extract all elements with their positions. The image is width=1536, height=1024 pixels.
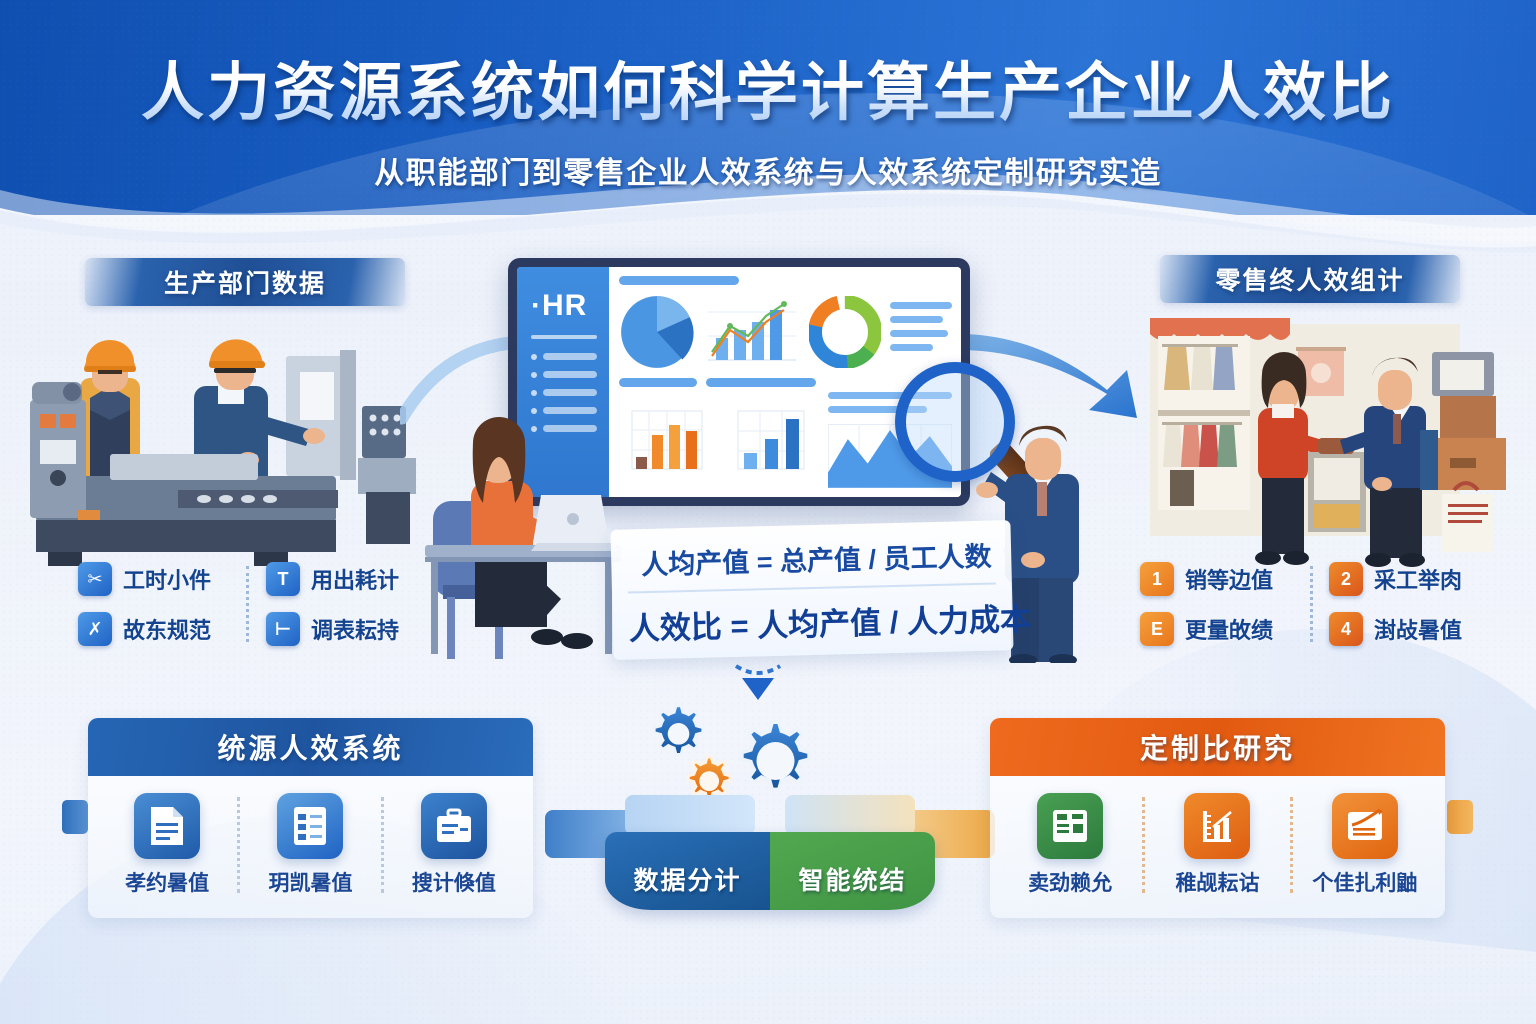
text-icon: T <box>266 562 300 596</box>
woman-at-laptop-illustration <box>425 415 640 670</box>
left-chip-3-label: 故东规范 <box>123 613 211 645</box>
sidebar-menu-item-4[interactable] <box>531 407 597 414</box>
left-section-ribbon: 生产部门数据 <box>85 258 405 306</box>
id-card-icon <box>1037 793 1103 859</box>
left-chip-1[interactable]: ✂ 工时小件 <box>78 562 240 596</box>
page-subtitle: 从职能部门到零售企业人效系统与人效系统定制研究实造 <box>0 148 1536 192</box>
bottom-left-panel-body: 孝约暑值 玥凯暑值 <box>88 776 533 918</box>
number-3-icon: E <box>1140 612 1174 646</box>
gear-small-blue <box>654 706 703 755</box>
pie-chart[interactable] <box>619 290 695 373</box>
bottom-left-divider-1 <box>237 797 240 893</box>
formula-line-2: 人效比 = 人均产值 / 人力成本 <box>628 585 997 653</box>
formula-card: 人均产值 = 总产值 / 员工人数 人效比 = 人均产值 / 人力成本 <box>610 520 1013 660</box>
sidebar-menu-item-1[interactable] <box>531 353 597 360</box>
sidebar-menu-item-2[interactable] <box>531 371 597 378</box>
bottom-left-item-1-label: 孝约暑值 <box>125 867 209 897</box>
briefcase-icon <box>421 793 487 859</box>
right-section-ribbon: 零售终人效组计 <box>1160 255 1460 303</box>
number-4-icon: 4 <box>1329 612 1363 646</box>
bottom-right-panel: 定制比研究 卖劲赖允 <box>990 718 1445 918</box>
left-chip-4[interactable]: ⊢ 调表耘持 <box>266 612 428 646</box>
right-chip-1-label: 销等边值 <box>1185 563 1273 595</box>
dashboard-row-1 <box>619 290 952 373</box>
line-bar-combo-chart[interactable] <box>704 290 800 373</box>
right-chip-3-label: 更量敀绩 <box>1185 613 1273 645</box>
bottom-left-item-3-label: 搜计倏值 <box>412 867 496 897</box>
bottom-right-panel-body: 卖劲赖允 稚觇耘诂 <box>990 776 1445 918</box>
center-flow-pill[interactable]: 数据分计 智能统结 <box>605 832 935 910</box>
bar-chart-icon <box>1184 793 1250 859</box>
page-title: 人力资源系统如何科学计算生产企业人效比 <box>0 42 1536 133</box>
left-feature-chip-grid: ✂ 工时小件 T 用出耗计 ✗ 故东规范 ⊢ 调表耘持 <box>78 562 428 646</box>
bottom-left-panel: 统源人效系统 孝约暑值 <box>88 718 533 918</box>
divider-bar-1 <box>619 378 697 387</box>
bottom-right-item-3-label: 个佳扎利鼬 <box>1312 867 1417 897</box>
bottom-right-divider-2 <box>1290 797 1293 893</box>
ruler-icon: ⊢ <box>266 612 300 646</box>
left-chip-4-label: 调表耘持 <box>311 613 399 645</box>
right-chip-4-label: 湗敁暑值 <box>1374 613 1462 645</box>
left-chip-1-label: 工时小件 <box>123 563 211 595</box>
menu-label-placeholder <box>543 407 597 414</box>
factory-scene-illustration <box>18 320 448 570</box>
menu-bullet-icon <box>531 390 537 396</box>
right-chip-1[interactable]: 1 销等边值 <box>1140 562 1303 596</box>
menu-label-placeholder <box>543 371 597 378</box>
title-bar-placeholder <box>619 276 739 285</box>
right-connector-tab <box>1447 800 1473 834</box>
pill-wing-left-inner <box>625 795 755 835</box>
menu-bullet-icon <box>531 372 537 378</box>
kpi-line-list <box>890 290 952 373</box>
right-chip-divider <box>1310 566 1313 642</box>
infographic-stage: 人力资源系统如何科学计算生产企业人效比 从职能部门到零售企业人效系统与人效系统定… <box>0 0 1536 1024</box>
scissors-icon: ✗ <box>78 612 112 646</box>
pill-label-right: 智能统结 <box>770 832 935 910</box>
menu-bullet-icon <box>531 354 537 360</box>
left-connector-tab <box>62 800 88 834</box>
bottom-right-item-3[interactable]: 个佳扎利鼬 <box>1305 793 1425 897</box>
sidebar-menu-item-3[interactable] <box>531 389 597 396</box>
blue-bar-chart[interactable] <box>723 392 818 488</box>
hr-logo: ·HR <box>531 289 597 323</box>
sidebar-rule <box>531 335 597 339</box>
wrench-icon: ✂ <box>78 562 112 596</box>
bottom-left-panel-header: 统源人效系统 <box>88 718 533 776</box>
number-2-icon: 2 <box>1329 562 1363 596</box>
bottom-left-item-1[interactable]: 孝约暑值 <box>107 793 227 897</box>
right-chip-4[interactable]: 4 湗敁暑值 <box>1329 612 1492 646</box>
menu-label-placeholder <box>543 353 597 360</box>
bottom-right-item-2[interactable]: 稚觇耘诂 <box>1157 793 1277 897</box>
bottom-right-panel-header: 定制比研究 <box>990 718 1445 776</box>
document-icon <box>134 793 200 859</box>
bottom-right-item-1-label: 卖劲赖允 <box>1028 867 1112 897</box>
right-chip-3[interactable]: E 更量敀绩 <box>1140 612 1303 646</box>
left-chip-divider <box>246 566 249 642</box>
formula-line-1: 人均产值 = 总产值 / 员工人数 <box>627 528 996 594</box>
gear-large-blue <box>742 722 810 790</box>
bottom-right-divider-1 <box>1142 797 1145 893</box>
right-feature-chip-grid: 1 销等边值 2 采工举肉 E 更量敀绩 4 湗敁暑值 <box>1140 562 1492 646</box>
bottom-right-item-2-label: 稚觇耘诂 <box>1175 867 1259 897</box>
bottom-left-item-2[interactable]: 玥凯暑值 <box>250 793 370 897</box>
dashboard-row-title <box>619 276 952 285</box>
bottom-left-divider-2 <box>381 797 384 893</box>
right-chip-2[interactable]: 2 采工举肉 <box>1329 562 1492 596</box>
retail-scene-illustration <box>1150 318 1520 568</box>
donut-chart[interactable] <box>809 290 881 373</box>
left-chip-3[interactable]: ✗ 故东规范 <box>78 612 240 646</box>
menu-label-placeholder <box>543 389 597 396</box>
bottom-left-item-3[interactable]: 搜计倏值 <box>394 793 514 897</box>
number-1-icon: 1 <box>1140 562 1174 596</box>
bottom-left-item-2-label: 玥凯暑值 <box>268 867 352 897</box>
pill-label-left: 数据分计 <box>605 832 770 910</box>
signature-form-icon <box>1332 793 1398 859</box>
list-report-icon <box>277 793 343 859</box>
center-flow-pill-group: 数据分计 智能统结 <box>575 790 965 910</box>
left-chip-2-label: 用出耗计 <box>311 563 399 595</box>
menu-bullet-icon <box>531 408 537 414</box>
bottom-right-item-1[interactable]: 卖劲赖允 <box>1010 793 1130 897</box>
right-chip-2-label: 采工举肉 <box>1374 563 1462 595</box>
divider-bar-2 <box>706 378 816 387</box>
pill-wing-right-inner <box>785 795 915 835</box>
left-chip-2[interactable]: T 用出耗计 <box>266 562 428 596</box>
